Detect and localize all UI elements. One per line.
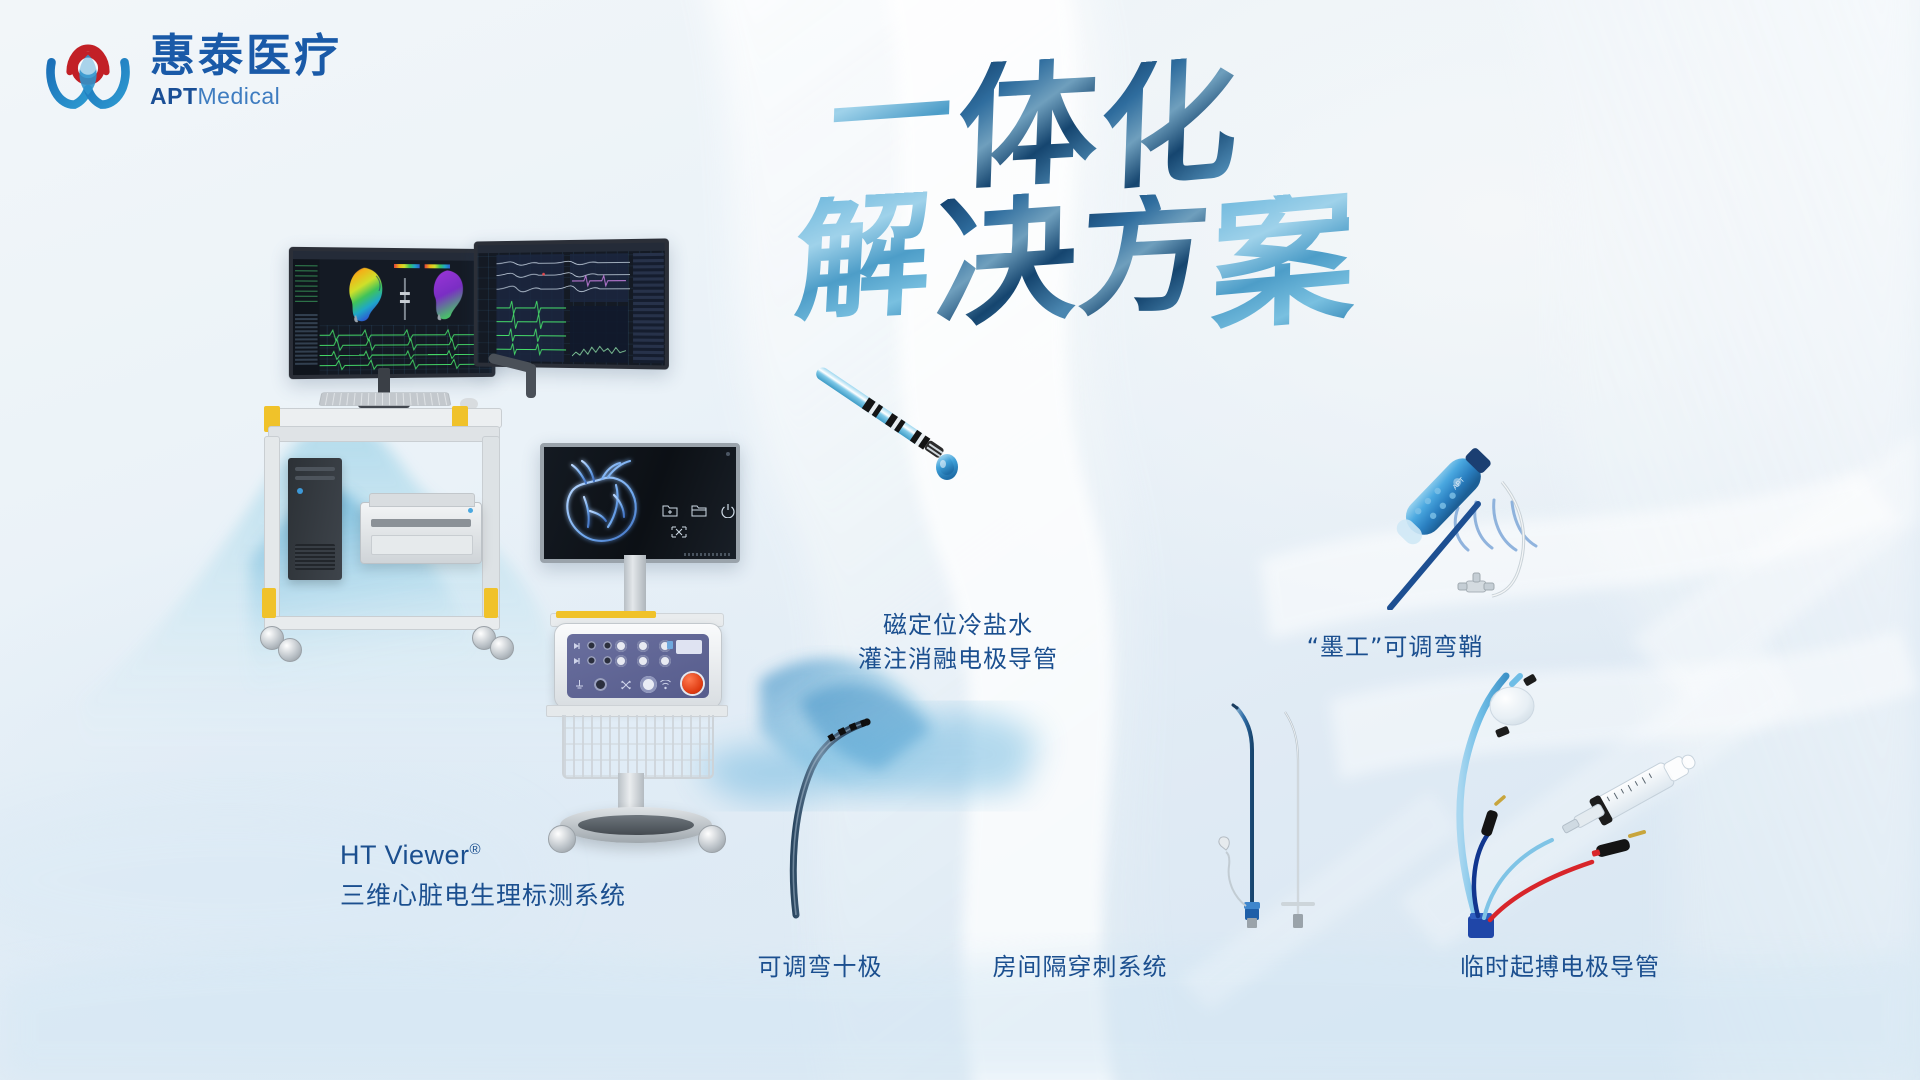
headline-char-4: 解 bbox=[792, 191, 935, 331]
power-icon[interactable] bbox=[720, 503, 736, 518]
product-label-ablation-catheter: 磁定位冷盐水 灌注消融电极导管 bbox=[838, 608, 1078, 676]
decapolar-catheter-image bbox=[760, 715, 890, 925]
headline-char-7: 案 bbox=[1210, 188, 1356, 334]
headline-char-2: 体 bbox=[956, 56, 1100, 193]
printer bbox=[360, 502, 482, 564]
ecg-recording-screen bbox=[478, 243, 665, 366]
product-label-pacing-catheter: 临时起搏电极导管 bbox=[1410, 950, 1710, 984]
product-label-transseptal: 房间隔穿刺系统 bbox=[935, 950, 1225, 984]
mapping-system-name-en: HT Viewer bbox=[340, 840, 470, 870]
trademark-symbol: ® bbox=[470, 841, 482, 858]
mapping-monitor-screen bbox=[293, 251, 492, 375]
transseptal-puncture-image bbox=[1185, 690, 1345, 930]
product-label-line1: 房间隔穿刺系统 bbox=[935, 950, 1225, 984]
product-label-line1: 磁定位冷盐水 bbox=[838, 608, 1078, 642]
computer-tower bbox=[288, 458, 342, 580]
product-label-decapolar: 可调弯十极 bbox=[700, 950, 940, 984]
pacing-catheter-image bbox=[1440, 670, 1730, 940]
product-label-line1: “墨工”可调弯鞘 bbox=[1255, 630, 1535, 664]
product-label-steerable-sheath: “墨工”可调弯鞘 bbox=[1255, 630, 1535, 664]
product-label-line1: 可调弯十极 bbox=[700, 950, 940, 984]
storage-basket bbox=[562, 715, 714, 779]
cart-caster bbox=[490, 636, 514, 660]
heart-display-monitor[interactable] bbox=[540, 443, 740, 563]
apt-medical-logo-icon bbox=[40, 22, 136, 118]
headline-calligraphy: 一 体 化 解 决 方 案 bbox=[975, 40, 1615, 330]
open-folder-icon[interactable] bbox=[691, 503, 707, 518]
brand-logo: 惠泰医疗 APTMedical bbox=[40, 22, 342, 118]
brand-name-cn: 惠泰医疗 bbox=[150, 33, 342, 78]
poster-canvas: 惠泰医疗 APTMedical 一 体 化 解 决 方 案 bbox=[0, 0, 1920, 1080]
product-label-line2: 灌注消融电极导管 bbox=[838, 642, 1078, 676]
headline-char-3: 化 bbox=[1098, 54, 1240, 196]
red-power-button[interactable] bbox=[682, 673, 703, 694]
settings-icon[interactable] bbox=[670, 525, 688, 539]
magnetic-positioning-console[interactable] bbox=[554, 623, 722, 709]
product-label-line1: 临时起搏电极导管 bbox=[1410, 950, 1710, 984]
ecg-recording-monitor[interactable] bbox=[474, 238, 669, 369]
cart-caster bbox=[698, 825, 726, 853]
mapping-system-name-cn: 三维心脏电生理标测系统 bbox=[340, 878, 626, 914]
brand-name-en-apt: APT bbox=[150, 83, 198, 109]
headline-char-5: 决 bbox=[934, 190, 1078, 333]
headline-char-6: 方 bbox=[1074, 191, 1213, 331]
brand-name-en: APTMedical bbox=[150, 85, 342, 108]
new-case-icon[interactable] bbox=[662, 503, 678, 518]
keyboard[interactable] bbox=[319, 392, 452, 406]
steerable-sheath-image: APT bbox=[1380, 420, 1610, 610]
cart-caster bbox=[278, 638, 302, 662]
mapping-monitor[interactable] bbox=[289, 247, 496, 379]
ablation-catheter-image bbox=[800, 355, 980, 485]
heart-display-screen bbox=[544, 447, 736, 559]
product-label-mapping-system: HT Viewer® 三维心脏电生理标测系统 bbox=[340, 840, 626, 914]
brand-name-en-medical: Medical bbox=[198, 83, 281, 109]
